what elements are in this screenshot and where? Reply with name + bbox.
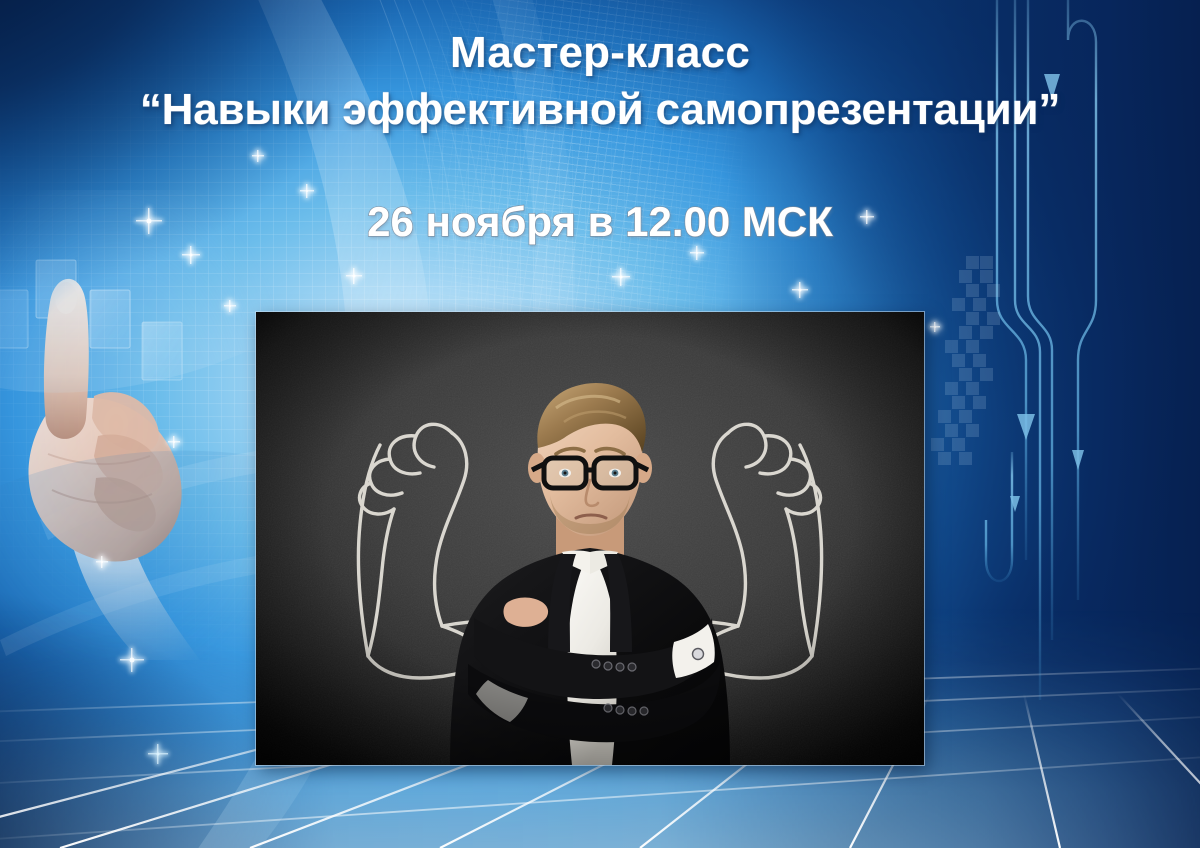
hand-touch-interface-image [0,190,290,660]
pixel-blocks [931,256,1000,465]
photo-illustration [256,312,924,765]
poster-text-block: Мастер-класс “Навыки эффективной самопре… [0,24,1200,248]
speaker-photo [256,312,924,765]
event-datetime: 26 ноября в 12.00 МСК [0,196,1200,248]
poster-canvas: Мастер-класс “Навыки эффективной самопре… [0,0,1200,848]
page-title-line-1: Мастер-класс [0,24,1200,81]
page-title-line-2: “Навыки эффективной самопрезентации” [0,81,1200,138]
